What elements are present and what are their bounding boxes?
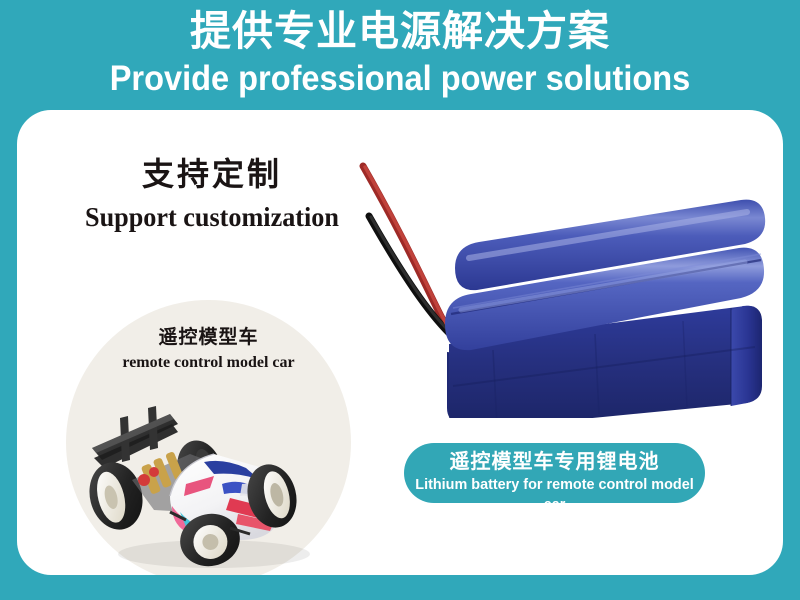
support-title-en: Support customization [52, 201, 372, 233]
product-banner: 提供专业电源解决方案 Provide professional power so… [0, 0, 800, 600]
badge-text-en: Lithium battery for remote control model… [410, 475, 699, 515]
header-title-cn: 提供专业电源解决方案 [0, 8, 800, 54]
banner-header: 提供专业电源解决方案 Provide professional power so… [0, 0, 800, 110]
content-card: 支持定制 Support customization [17, 110, 783, 575]
badge-text-cn: 遥控模型车专用锂电池 [404, 449, 705, 475]
car-label-en: remote control model car [66, 353, 351, 373]
rc-buggy-icon [74, 388, 344, 575]
car-label-cn: 遥控模型车 [66, 326, 351, 350]
header-title-en: Provide professional power solutions [28, 58, 772, 100]
product-badge: 遥控模型车专用锂电池 Lithium battery for remote co… [404, 443, 705, 503]
battery-illustration: XL 7.4V 2600mAh 20190702 [327, 138, 777, 418]
rc-car-circle: 遥控模型车 remote control model car [66, 300, 351, 575]
